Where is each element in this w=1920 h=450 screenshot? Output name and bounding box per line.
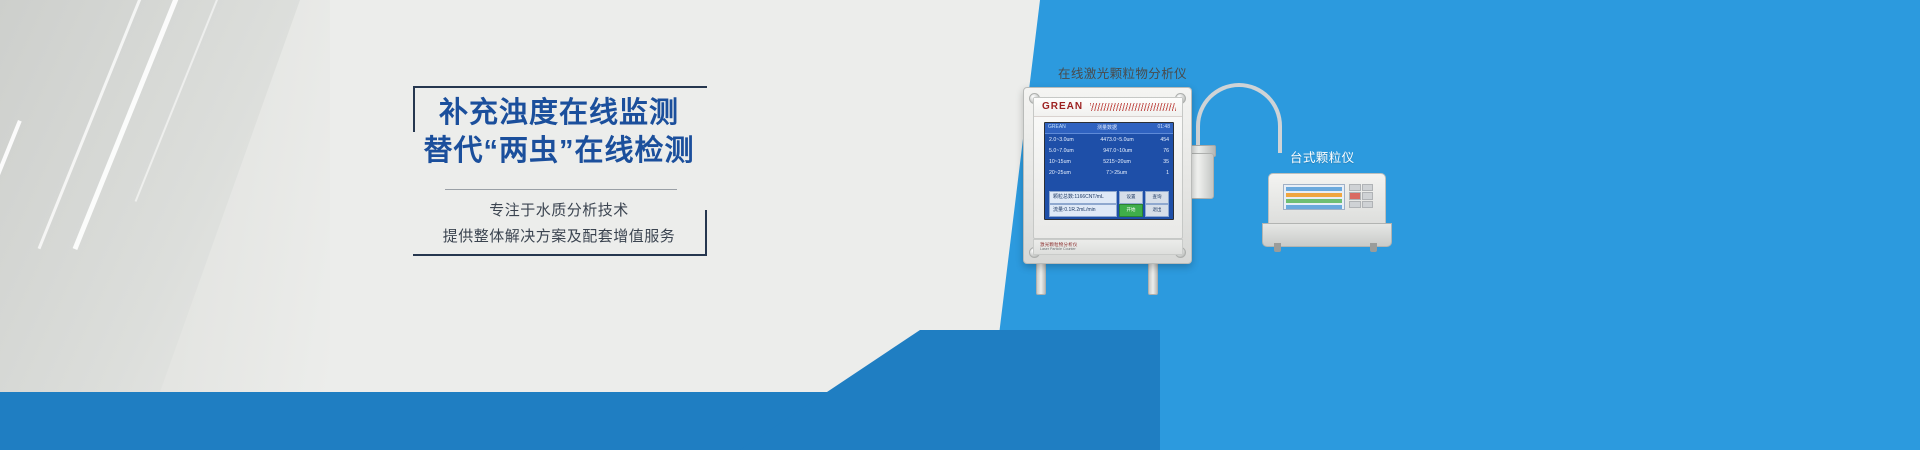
analyzer-front-panel: GREAN GREAN 测量数据 01:48 2.0~3.0um 447 3.0…	[1033, 97, 1183, 239]
bench-instrument	[1262, 173, 1394, 261]
lcd-value: 454	[1147, 136, 1169, 145]
bench-foot	[1370, 243, 1377, 252]
subtitle-block: 专注于水质分析技术 提供整体解决方案及配套增值服务	[413, 198, 705, 250]
lcd-range-label: 20~25um	[1049, 169, 1087, 178]
bench-key-power[interactable]	[1349, 192, 1361, 199]
lcd-button-start[interactable]: 开始	[1119, 204, 1143, 217]
brand-hatch-pattern	[1090, 103, 1176, 111]
analyzer-lcd-screen[interactable]: GREAN 测量数据 01:48 2.0~3.0um 447 3.0~5.0um…	[1044, 122, 1174, 220]
lcd-value: 94	[1087, 147, 1109, 156]
lcd-measurement-table: 2.0~3.0um 447 3.0~5.0um 454 5.0~7.0um 94…	[1049, 136, 1169, 178]
brand-name: GREAN	[1042, 101, 1083, 112]
lcd-range-label: 7.0~10um	[1109, 147, 1147, 156]
lcd-value: 76	[1147, 147, 1169, 156]
hero-banner: 补充浊度在线监测 替代“两虫”在线检测 专注于水质分析技术 提供整体解决方案及配…	[0, 0, 1920, 450]
headline-block: 补充浊度在线监测 替代“两虫”在线检测 专注于水质分析技术 提供整体解决方案及配…	[413, 86, 705, 254]
lcd-value: 7	[1087, 169, 1109, 178]
lcd-value: 52	[1087, 158, 1109, 167]
subtitle-line-1: 专注于水质分析技术	[413, 198, 705, 224]
divider	[445, 189, 677, 190]
equipment-illustration: 在线激光颗粒物分析仪 台式颗粒仪 GREAN GREAN 测量数据	[1000, 55, 1420, 345]
lcd-button-query[interactable]: 查询	[1145, 191, 1169, 204]
bench-key[interactable]	[1362, 201, 1374, 208]
headline-line-1: 补充浊度在线监测	[413, 94, 705, 132]
bench-keypad[interactable]	[1349, 184, 1373, 208]
bench-key[interactable]	[1349, 201, 1361, 208]
lcd-value: 1	[1147, 169, 1169, 178]
bench-key[interactable]	[1362, 184, 1374, 191]
headline-line-2: 替代“两虫”在线检测	[413, 132, 705, 170]
lcd-flow-row: 流量:0.1R.2mL/min 开始 退出	[1049, 205, 1169, 216]
bench-foot	[1274, 243, 1281, 252]
bench-display	[1283, 184, 1345, 210]
nameplate-text-en: Laser Particle Counter	[1040, 247, 1076, 251]
lcd-range-label: 3.0~5.0um	[1109, 136, 1147, 145]
lcd-value: 35	[1147, 158, 1169, 167]
lcd-clock: 01:48	[1157, 124, 1170, 130]
lcd-total-row: 颗粒总数:1166CNT/mL 设置 查询	[1049, 192, 1169, 203]
bench-display-line	[1286, 205, 1342, 209]
bench-caption: 台式颗粒仪	[1290, 147, 1355, 166]
lcd-range-label: 10~15um	[1049, 158, 1087, 167]
lcd-range-label: 15~20um	[1109, 158, 1147, 167]
analyzer-enclosure: GREAN GREAN 测量数据 01:48 2.0~3.0um 447 3.0…	[1023, 87, 1192, 264]
lcd-status-bar: GREAN 测量数据 01:48	[1045, 123, 1173, 134]
bench-display-line	[1286, 193, 1342, 197]
lcd-range-label: 2.0~3.0um	[1049, 136, 1087, 145]
lcd-title: 测量数据	[1097, 124, 1117, 131]
bench-display-line	[1286, 187, 1342, 191]
mounting-leg-left	[1036, 261, 1046, 295]
lcd-range-label: ＞25um	[1109, 169, 1147, 178]
bench-key[interactable]	[1362, 192, 1374, 199]
lcd-range-label: 5.0~7.0um	[1049, 147, 1087, 156]
bench-display-line	[1286, 199, 1342, 203]
lcd-total-field: 颗粒总数:1166CNT/mL	[1049, 191, 1117, 204]
subtitle-line-2: 提供整体解决方案及配套增值服务	[413, 224, 705, 250]
lcd-brand: GREAN	[1048, 124, 1066, 130]
analyzer-nameplate: 激光颗粒物分析仪 Laser Particle Counter	[1033, 239, 1183, 255]
page-title: 补充浊度在线监测 替代“两虫”在线检测	[413, 94, 705, 171]
brand-bar: GREAN	[1034, 98, 1182, 117]
sampling-tube	[1196, 83, 1282, 153]
analyzer-caption: 在线激光颗粒物分析仪	[1058, 63, 1187, 82]
lcd-button-exit[interactable]: 退出	[1145, 204, 1169, 217]
lcd-flow-field: 流量:0.1R.2mL/min	[1049, 204, 1117, 217]
lcd-value: 447	[1087, 136, 1109, 145]
bench-top-housing	[1268, 173, 1386, 227]
bench-key[interactable]	[1349, 184, 1361, 191]
lcd-button-settings[interactable]: 设置	[1119, 191, 1143, 204]
mounting-leg-right	[1148, 261, 1158, 295]
